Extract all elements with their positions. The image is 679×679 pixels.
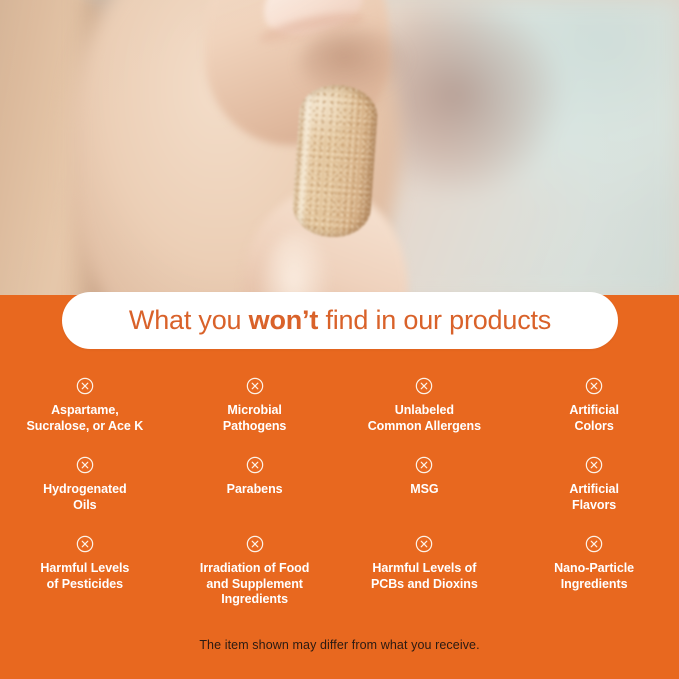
- exclusion-label: Artificial Flavors: [569, 482, 619, 513]
- circle-x-icon: [415, 535, 433, 553]
- headline-part-1: What you: [129, 305, 249, 335]
- exclusion-item: Aspartame, Sucralose, or Ace K: [0, 368, 170, 447]
- circle-x-icon: [76, 456, 94, 474]
- headline-emphasis: won’t: [249, 305, 318, 335]
- exclusion-item: Parabens: [170, 447, 340, 526]
- exclusion-label: Microbial Pathogens: [223, 403, 286, 434]
- circle-x-icon: [415, 456, 433, 474]
- exclusion-item: MSG: [340, 447, 510, 526]
- exclusion-label: MSG: [410, 482, 438, 498]
- photo-vignette: [0, 0, 679, 300]
- exclusion-item: Irradiation of Food and Supplement Ingre…: [170, 526, 340, 614]
- product-claims-panel: What you won’t find in our products Aspa…: [0, 0, 679, 679]
- exclusion-label: Hydrogenated Oils: [43, 482, 126, 513]
- exclusion-label: Parabens: [227, 482, 283, 498]
- exclusion-item: Artificial Colors: [509, 368, 679, 447]
- exclusion-item: Hydrogenated Oils: [0, 447, 170, 526]
- exclusions-grid: Aspartame, Sucralose, or Ace K Microbial…: [0, 368, 679, 614]
- circle-x-icon: [246, 535, 264, 553]
- headline-pill: What you won’t find in our products: [62, 292, 618, 349]
- exclusion-label: Aspartame, Sucralose, or Ace K: [27, 403, 144, 434]
- exclusion-label: Irradiation of Food and Supplement Ingre…: [200, 561, 309, 608]
- circle-x-icon: [76, 377, 94, 395]
- exclusion-item: Artificial Flavors: [509, 447, 679, 526]
- circle-x-icon: [585, 377, 603, 395]
- page-title: What you won’t find in our products: [129, 307, 551, 334]
- headline-part-2: find in our products: [318, 305, 551, 335]
- disclaimer-text: The item shown may differ from what you …: [0, 638, 679, 652]
- exclusion-label: Artificial Colors: [569, 403, 619, 434]
- exclusions-row: Aspartame, Sucralose, or Ace K Microbial…: [0, 368, 679, 447]
- exclusion-item: Harmful Levels of Pesticides: [0, 526, 170, 614]
- circle-x-icon: [415, 377, 433, 395]
- exclusions-row: Hydrogenated Oils Parabens MSG: [0, 447, 679, 526]
- circle-x-icon: [246, 456, 264, 474]
- exclusion-label: Nano-Particle Ingredients: [554, 561, 634, 592]
- exclusion-item: Unlabeled Common Allergens: [340, 368, 510, 447]
- exclusion-label: Unlabeled Common Allergens: [368, 403, 481, 434]
- exclusion-label: Harmful Levels of Pesticides: [40, 561, 129, 592]
- circle-x-icon: [246, 377, 264, 395]
- exclusion-item: Microbial Pathogens: [170, 368, 340, 447]
- product-photo: [0, 0, 679, 300]
- exclusions-row: Harmful Levels of Pesticides Irradiation…: [0, 526, 679, 614]
- circle-x-icon: [585, 535, 603, 553]
- circle-x-icon: [76, 535, 94, 553]
- circle-x-icon: [585, 456, 603, 474]
- exclusion-label: Harmful Levels of PCBs and Dioxins: [371, 561, 478, 592]
- exclusion-item: Nano-Particle Ingredients: [509, 526, 679, 614]
- exclusion-item: Harmful Levels of PCBs and Dioxins: [340, 526, 510, 614]
